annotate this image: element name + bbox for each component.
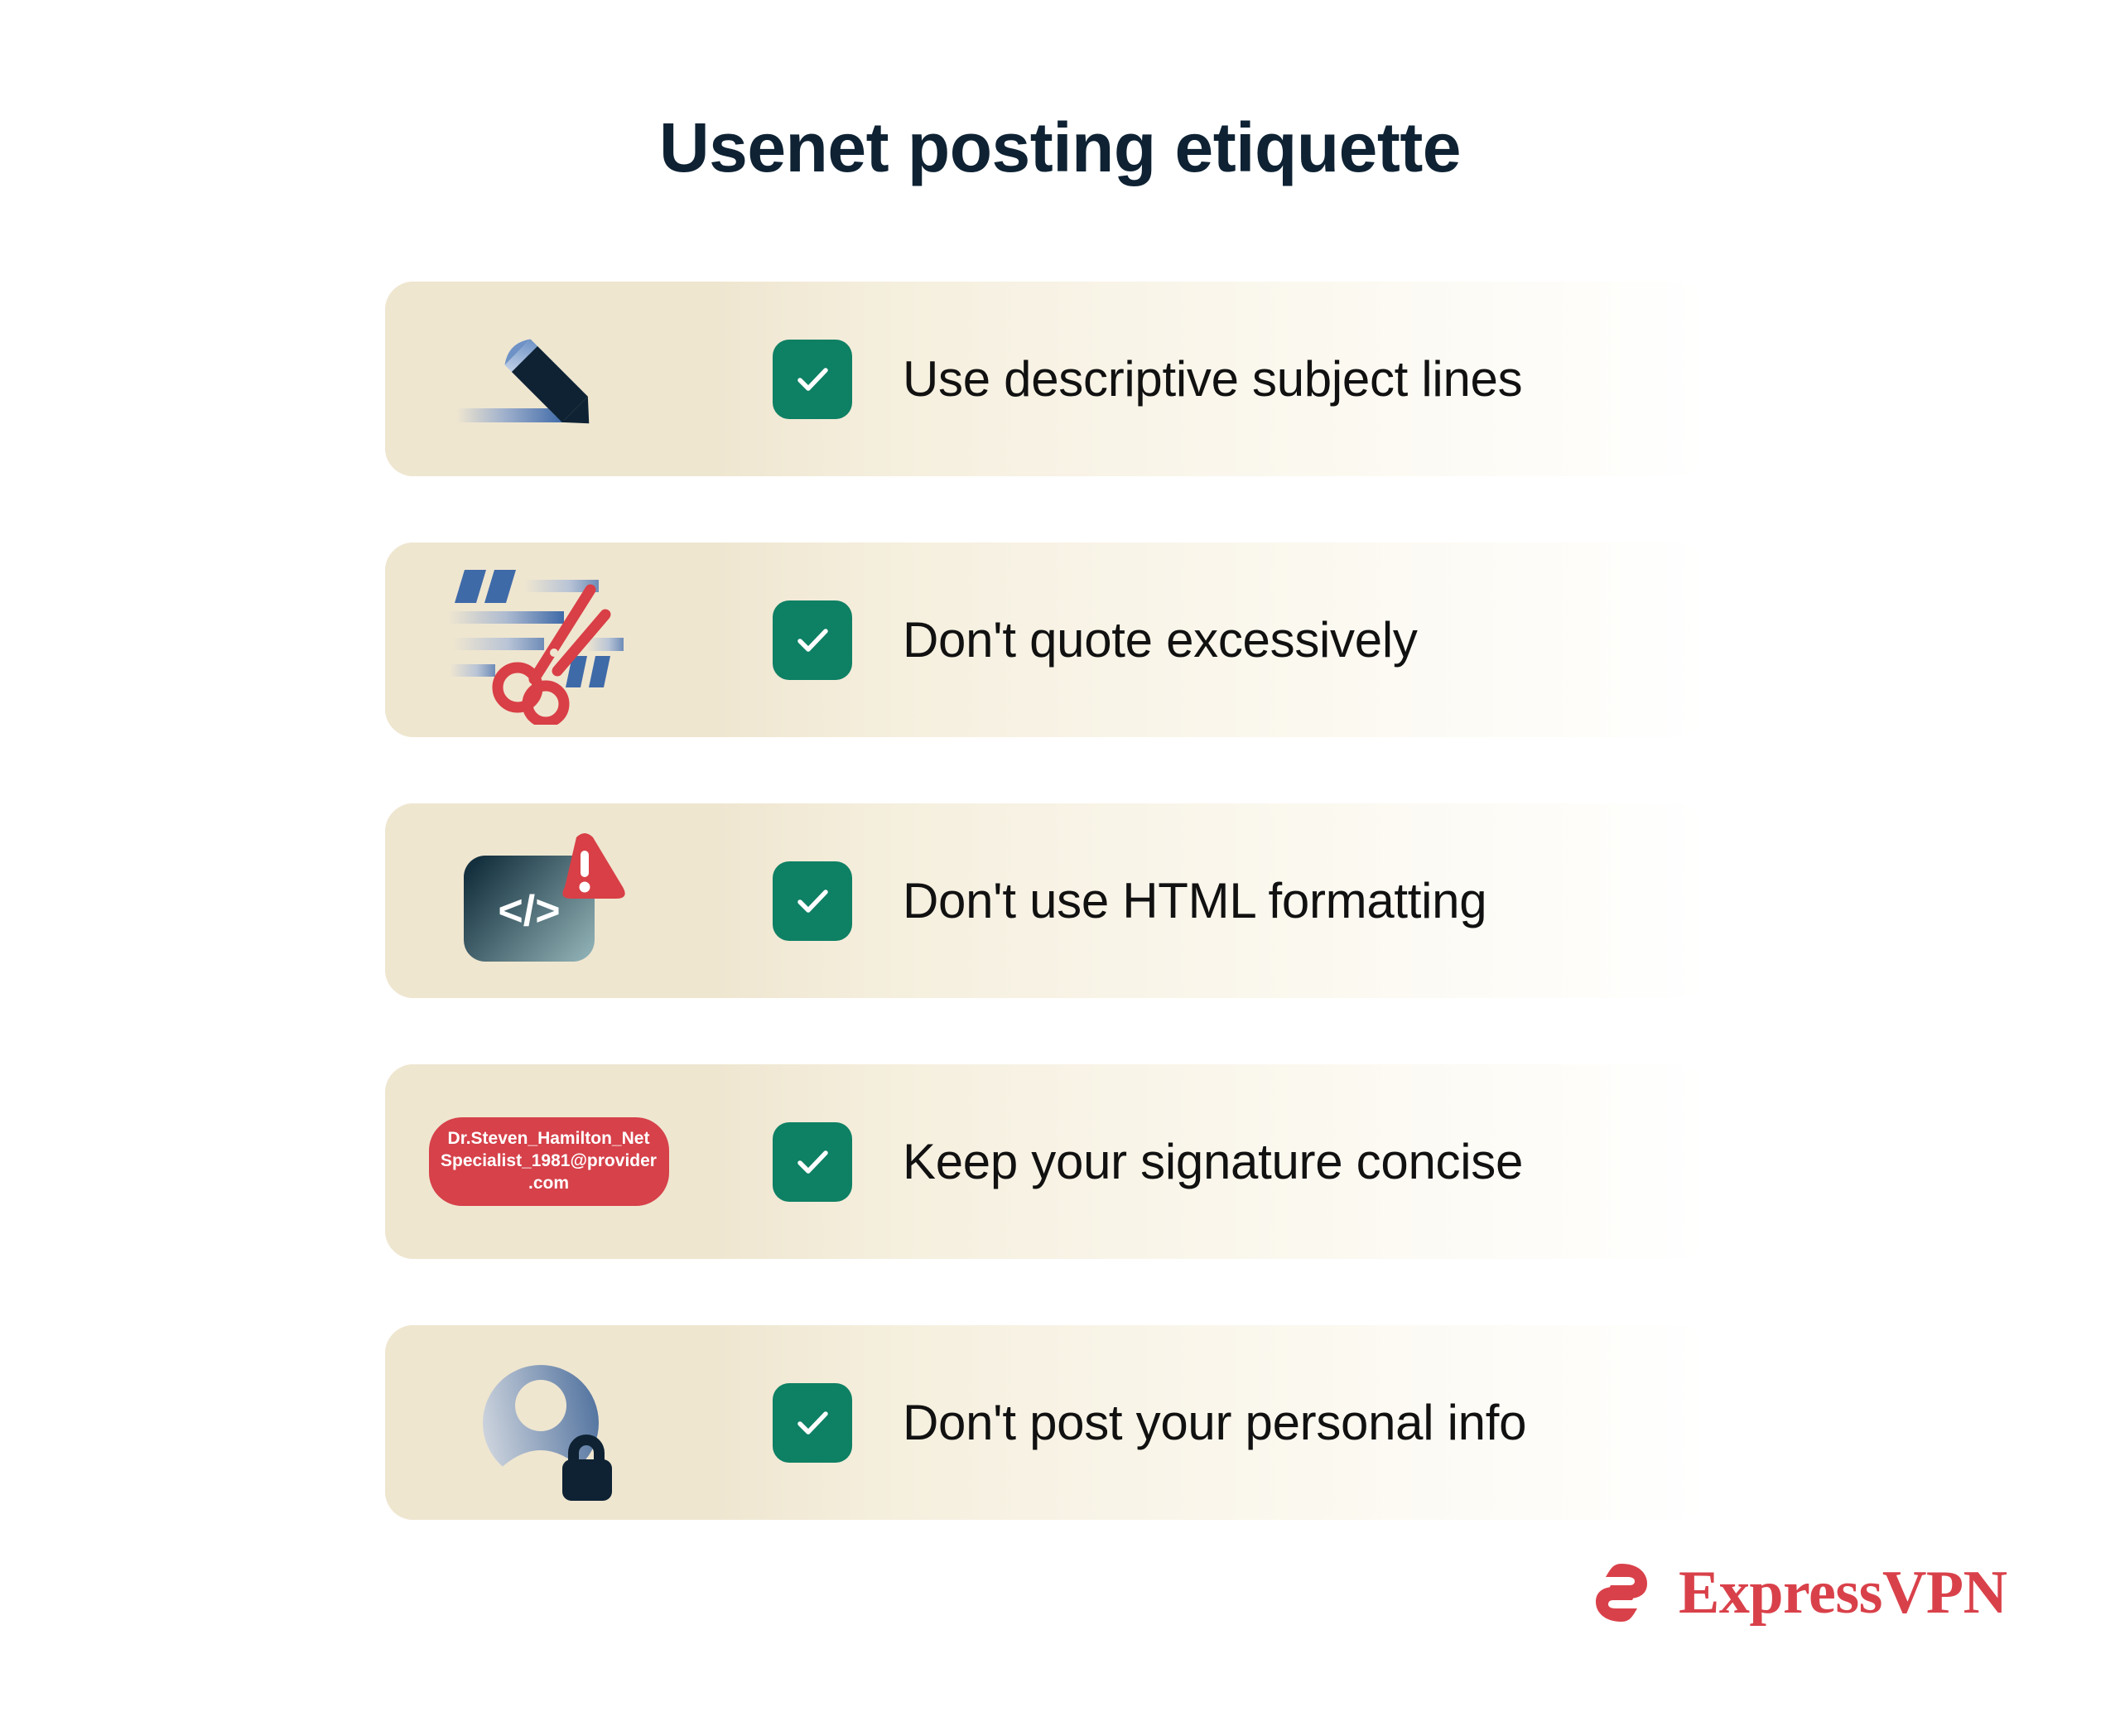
checkmark-badge [773,861,852,941]
list-item-label: Keep your signature concise [903,1064,1523,1259]
pencil-writing-icon [385,282,712,476]
scissors-cutting-text-icon [385,542,712,737]
checkmark-icon [790,357,835,402]
infographic-page: Usenet posting etiquette [0,0,2120,1736]
list-item: </> Don't use HTML formatting [385,803,1706,998]
icon-tile [385,282,712,476]
list-item: Don't quote excessively [385,542,1706,737]
icon-tile [385,1325,712,1520]
code-warning-icon: </> [385,803,712,998]
list-item: Dr.Steven_Hamilton_Net Specialist_1981@p… [385,1064,1706,1259]
checkmark-icon [790,618,835,663]
list-item: Don't post your personal info [385,1325,1706,1520]
checkmark-badge [773,1383,852,1463]
icon-tile: Dr.Steven_Hamilton_Net Specialist_1981@p… [385,1064,712,1259]
list-item-label: Use descriptive subject lines [903,282,1522,476]
checkmark-badge [773,1122,852,1202]
checkmark-icon [790,1401,835,1445]
checkmark-icon [790,879,835,923]
expressvpn-e-mark-icon [1586,1557,1657,1628]
checkmark-badge [773,340,852,419]
page-title: Usenet posting etiquette [0,109,2120,186]
signature-pill-text: Dr.Steven_Hamilton_Net Specialist_1981@p… [429,1117,669,1206]
list-item: Use descriptive subject lines [385,282,1706,476]
checkmark-icon [790,1140,835,1184]
long-email-signature-badge: Dr.Steven_Hamilton_Net Specialist_1981@p… [385,1064,712,1259]
icon-tile [385,542,712,737]
icon-tile: </> [385,803,712,998]
list-item-label: Don't use HTML formatting [903,803,1486,998]
list-item-label: Don't post your personal info [903,1325,1526,1520]
user-lock-icon [385,1325,712,1520]
logo-wordmark: ExpressVPN [1679,1562,2007,1623]
etiquette-list: Use descriptive subject lines [385,282,1706,1586]
code-glyph: </> [498,887,560,935]
checkmark-badge [773,600,852,680]
list-item-label: Don't quote excessively [903,542,1418,737]
expressvpn-logo: ExpressVPN [1586,1557,2007,1628]
